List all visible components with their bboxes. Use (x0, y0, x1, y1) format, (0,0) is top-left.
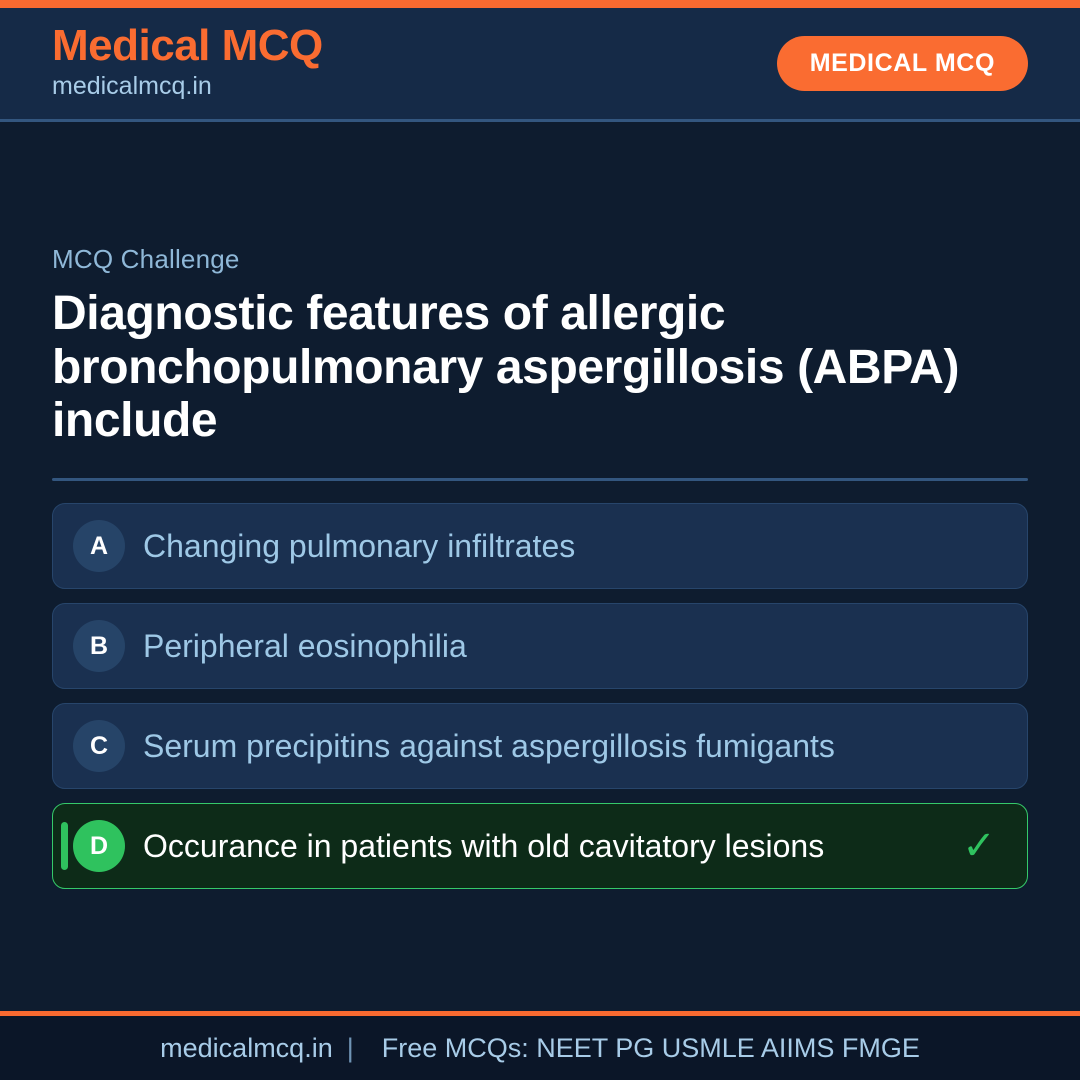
option-text: Serum precipitins against aspergillosis … (143, 729, 957, 763)
page-footer: medicalmcq.in | Free MCQs: NEET PG USMLE… (0, 1011, 1080, 1080)
option-text: Changing pulmonary infiltrates (143, 529, 957, 563)
title-divider (52, 478, 1028, 481)
page-title: Diagnostic features of allergic bronchop… (52, 287, 1028, 448)
option-text: Occurance in patients with old cavitator… (143, 829, 957, 863)
option-text: Peripheral eosinophilia (143, 629, 957, 663)
option-d[interactable]: D Occurance in patients with old cavitat… (52, 803, 1028, 889)
option-a[interactable]: A Changing pulmonary infiltrates (52, 503, 1028, 589)
footer-exams: Free MCQs: NEET PG USMLE AIIMS FMGE (368, 1033, 920, 1064)
question-label: MCQ Challenge (52, 244, 1028, 275)
option-letter-badge: C (73, 720, 125, 772)
footer-site: medicalmcq.in (160, 1033, 333, 1064)
option-b[interactable]: B Peripheral eosinophilia (52, 603, 1028, 689)
correct-accent-bar (61, 822, 68, 870)
footer-separator: | (333, 1033, 368, 1064)
option-letter-badge: B (73, 620, 125, 672)
header-badge: MEDICAL MCQ (777, 36, 1028, 91)
option-c[interactable]: C Serum precipitins against aspergillosi… (52, 703, 1028, 789)
option-letter-badge: A (73, 520, 125, 572)
check-icon: ✓ (957, 826, 1001, 866)
options-list: A Changing pulmonary infiltrates B Perip… (52, 503, 1028, 889)
page-header: Medical MCQ medicalmcq.in MEDICAL MCQ (0, 8, 1080, 122)
brand-title: Medical MCQ (52, 24, 323, 69)
option-letter-badge: D (73, 820, 125, 872)
mcq-card: Medical MCQ medicalmcq.in MEDICAL MCQ MC… (0, 0, 1080, 1080)
brand-subtitle: medicalmcq.in (52, 71, 323, 102)
top-accent-bar (0, 0, 1080, 8)
brand-block: Medical MCQ medicalmcq.in (52, 24, 323, 102)
question-area: MCQ Challenge Diagnostic features of all… (0, 122, 1080, 1011)
